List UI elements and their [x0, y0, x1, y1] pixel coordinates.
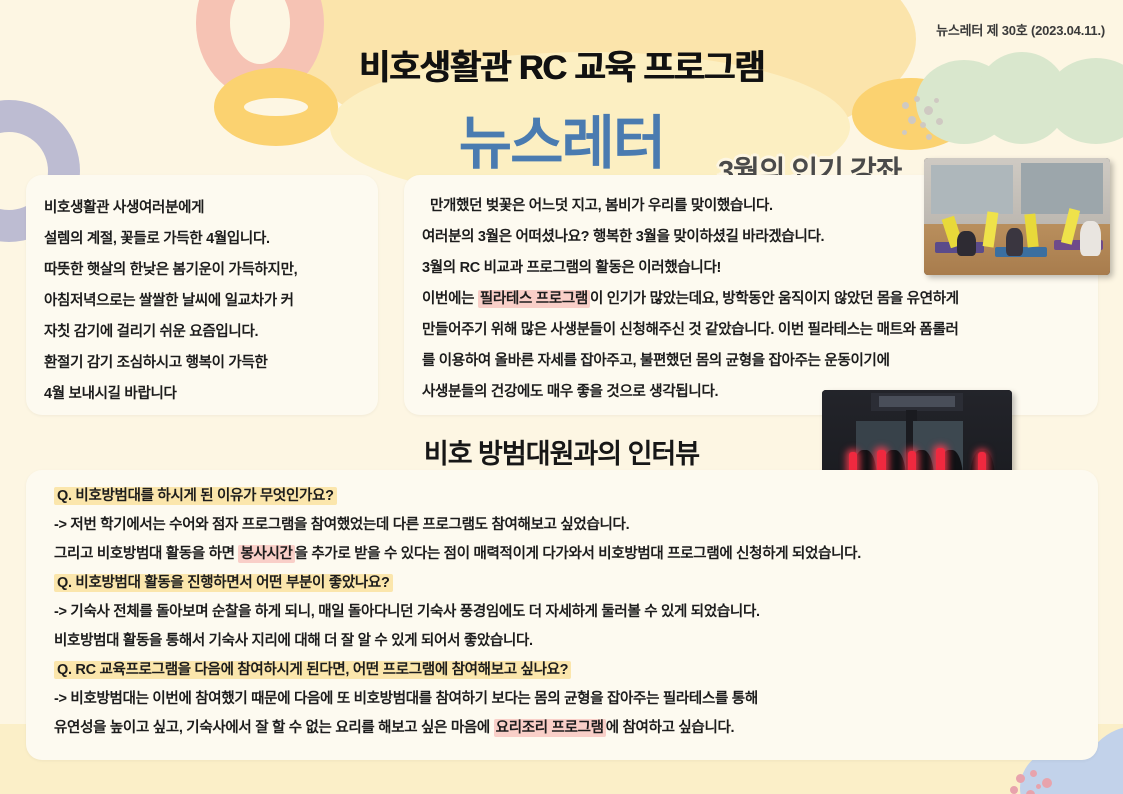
greeting-line: 비호생활관 사생여러분에게	[44, 193, 378, 224]
greeting-line: 환절기 감기 조심하시고 행복이 가득한	[44, 348, 378, 379]
interview-question: Q. RC 교육프로그램을 다음에 참여하시게 된다면, 어떤 프로그램에 참여…	[54, 656, 1098, 685]
march-line-post: 이 인기가 많았는데요, 방학동안 움직이지 않았던 몸을 유연하게	[590, 291, 959, 307]
march-line-pre: 이번에는	[422, 291, 478, 307]
pilates-program-highlight: 필라테스 프로그램	[478, 290, 590, 308]
answer-post: 을 추가로 받을 수 있다는 점이 매력적이게 다가와서 비호방범대 프로그램에…	[295, 546, 861, 562]
newsletter-page: 뉴스레터 제 30호 (2023.04.11.) 비호생활관 RC 교육 프로그…	[0, 0, 1123, 794]
section-heading-interview: 비호 방범대원과의 인터뷰	[0, 432, 1123, 471]
greeting-line: 아침저녁으로는 쌀쌀한 날씨에 일교차가 커	[44, 286, 378, 317]
interview-question: Q. 비호방범대를 하시게 된 이유가 무엇인가요?	[54, 482, 1098, 511]
page-title: 비호생활관 RC 교육 프로그램	[0, 40, 1123, 89]
volunteer-hours-highlight: 봉사시간	[238, 545, 294, 563]
answer-post: 에 참여하고 싶습니다.	[606, 720, 735, 736]
interview-question: Q. 비호방범대 활동을 진행하면서 어떤 부분이 좋았나요?	[54, 569, 1098, 598]
newsletter-issue-label: 뉴스레터 제 30호 (2023.04.11.)	[936, 20, 1105, 39]
interview-answer: -> 비호방범대는 이번에 참여했기 때문에 다음에 또 비호방범대를 참여하기…	[54, 685, 1098, 714]
greeting-line: 4월 보내시길 바랍니다	[44, 379, 378, 410]
pink-dot-cluster-decoration	[1010, 770, 1070, 794]
answer-pre: 그리고 비호방범대 활동을 하면	[54, 546, 238, 562]
grey-cloud-decoration	[1030, 756, 1123, 794]
question-highlight: Q. RC 교육프로그램을 다음에 참여하시게 된다면, 어떤 프로그램에 참여…	[54, 661, 571, 679]
greeting-line: 자칫 감기에 걸리기 쉬운 요즘입니다.	[44, 317, 378, 348]
march-line: 만들어주기 위해 많은 사생분들이 신청해주신 것 같았습니다. 이번 필라테스…	[422, 315, 1098, 346]
interview-answer: -> 기숙사 전체를 돌아보며 순찰을 하게 되니, 매일 돌아다니던 기숙사 …	[54, 598, 1098, 627]
interview-answer-highlighted: 그리고 비호방범대 활동을 하면 봉사시간을 추가로 받을 수 있다는 점이 매…	[54, 540, 1098, 569]
greeting-card: 비호생활관 사생여러분에게 설렘의 계절, 꽃들로 가득한 4월입니다. 따뜻한…	[26, 175, 378, 415]
march-line: 를 이용하여 올바른 자세를 잡아주고, 불편했던 몸의 균형을 잡아주는 운동…	[422, 346, 1098, 377]
question-highlight: Q. 비호방범대 활동을 진행하면서 어떤 부분이 좋았나요?	[54, 574, 393, 592]
question-highlight: Q. 비호방범대를 하시게 된 이유가 무엇인가요?	[54, 487, 337, 505]
interview-card: Q. 비호방범대를 하시게 된 이유가 무엇인가요? -> 저번 학기에서는 수…	[26, 470, 1098, 760]
march-line-highlighted: 이번에는 필라테스 프로그램이 인기가 많았는데요, 방학동안 움직이지 않았던…	[422, 284, 1098, 315]
cooking-program-highlight: 요리조리 프로그램	[494, 719, 606, 737]
pilates-class-photo	[924, 158, 1110, 275]
interview-answer: -> 저번 학기에서는 수어와 점자 프로그램을 참여했었는데 다른 프로그램도…	[54, 511, 1098, 540]
interview-answer: 비호방범대 활동을 통해서 기숙사 지리에 대해 더 잘 알 수 있게 되어서 …	[54, 627, 1098, 656]
answer-pre: 유연성을 높이고 싶고, 기숙사에서 잘 할 수 없는 요리를 해보고 싶은 마…	[54, 720, 494, 736]
interview-answer-highlighted: 유연성을 높이고 싶고, 기숙사에서 잘 할 수 없는 요리를 해보고 싶은 마…	[54, 714, 1098, 743]
greeting-line: 따뜻한 햇살의 한낮은 봄기운이 가득하지만,	[44, 255, 378, 286]
greeting-line: 설렘의 계절, 꽃들로 가득한 4월입니다.	[44, 224, 378, 255]
